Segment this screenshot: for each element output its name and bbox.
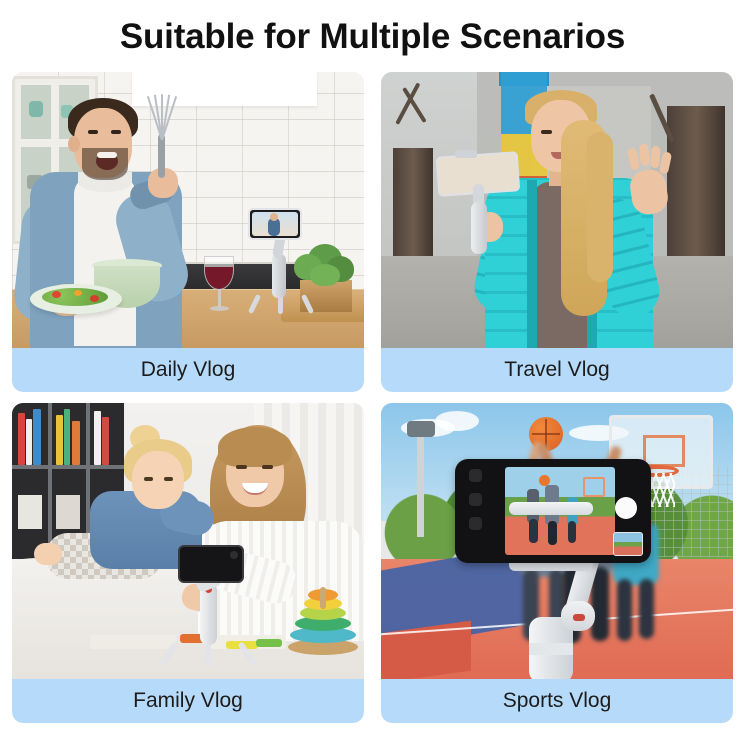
page-title: Suitable for Multiple Scenarios (0, 14, 745, 60)
scenario-card-family-vlog[interactable]: Family Vlog (12, 403, 364, 723)
caption-family-vlog: Family Vlog (12, 679, 364, 723)
caption-travel-vlog: Travel Vlog (381, 348, 733, 392)
caption-sports-vlog: Sports Vlog (381, 679, 733, 723)
scenario-card-daily-vlog[interactable]: Daily Vlog (12, 72, 364, 392)
photo-family-vlog (12, 403, 364, 679)
scenario-card-sports-vlog[interactable]: Sports Vlog (381, 403, 733, 723)
scenario-card-travel-vlog[interactable]: Travel Vlog (381, 72, 733, 392)
caption-daily-vlog: Daily Vlog (12, 348, 364, 392)
scenario-grid: Daily Vlog (12, 72, 733, 723)
scenario-collage: Suitable for Multiple Scenarios (0, 0, 745, 745)
photo-daily-vlog (12, 72, 364, 348)
photo-sports-vlog (381, 403, 733, 679)
photo-travel-vlog (381, 72, 733, 348)
